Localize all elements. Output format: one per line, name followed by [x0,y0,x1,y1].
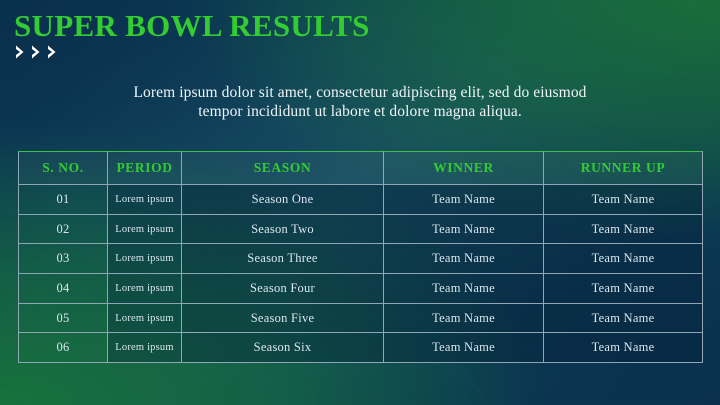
column-header-season[interactable]: SEASON [182,152,384,185]
slide-canvas: SUPER BOWL RESULTS Lorem ipsum dolor sit… [0,0,720,405]
cell-runner-up: Team Name [544,244,703,274]
table-body: 01 Lorem ipsum Season One Team Name Team… [19,185,703,363]
column-header-winner[interactable]: WINNER [384,152,544,185]
column-header-period[interactable]: PERIOD [108,152,182,185]
chevron-right-icon [46,44,58,60]
table-row[interactable]: 04 Lorem ipsum Season Four Team Name Tea… [19,274,703,304]
chevron-group [14,44,370,60]
cell-sno: 03 [19,244,108,274]
chevron-right-icon [14,44,26,60]
page-title: SUPER BOWL RESULTS [14,9,370,43]
cell-sno: 02 [19,214,108,244]
table-header-row: S. NO. PERIOD SEASON WINNER RUNNER UP [19,152,703,185]
cell-winner: Team Name [384,333,544,363]
cell-sno: 01 [19,185,108,215]
chevron-right-icon [30,44,42,60]
table-header: S. NO. PERIOD SEASON WINNER RUNNER UP [19,152,703,185]
cell-winner: Team Name [384,185,544,215]
table-row[interactable]: 03 Lorem ipsum Season Three Team Name Te… [19,244,703,274]
cell-period: Lorem ipsum [108,274,182,304]
cell-season: Season One [182,185,384,215]
cell-season: Season Three [182,244,384,274]
subtitle-text: Lorem ipsum dolor sit amet, consectetur … [110,84,610,121]
column-header-runner-up[interactable]: RUNNER UP [544,152,703,185]
cell-sno: 05 [19,303,108,333]
cell-season: Season Five [182,303,384,333]
results-table: S. NO. PERIOD SEASON WINNER RUNNER UP 01… [18,151,703,363]
table-row[interactable]: 02 Lorem ipsum Season Two Team Name Team… [19,214,703,244]
cell-period: Lorem ipsum [108,185,182,215]
cell-sno: 04 [19,274,108,304]
cell-period: Lorem ipsum [108,214,182,244]
cell-winner: Team Name [384,303,544,333]
table-row[interactable]: 01 Lorem ipsum Season One Team Name Team… [19,185,703,215]
table-row[interactable]: 06 Lorem ipsum Season Six Team Name Team… [19,333,703,363]
cell-runner-up: Team Name [544,333,703,363]
cell-season: Season Six [182,333,384,363]
cell-period: Lorem ipsum [108,303,182,333]
cell-winner: Team Name [384,274,544,304]
cell-runner-up: Team Name [544,274,703,304]
cell-runner-up: Team Name [544,185,703,215]
cell-period: Lorem ipsum [108,333,182,363]
cell-period: Lorem ipsum [108,244,182,274]
column-header-sno[interactable]: S. NO. [19,152,108,185]
cell-winner: Team Name [384,214,544,244]
cell-sno: 06 [19,333,108,363]
cell-season: Season Four [182,274,384,304]
cell-runner-up: Team Name [544,303,703,333]
cell-season: Season Two [182,214,384,244]
title-block: SUPER BOWL RESULTS [14,9,370,60]
cell-runner-up: Team Name [544,214,703,244]
table-row[interactable]: 05 Lorem ipsum Season Five Team Name Tea… [19,303,703,333]
cell-winner: Team Name [384,244,544,274]
